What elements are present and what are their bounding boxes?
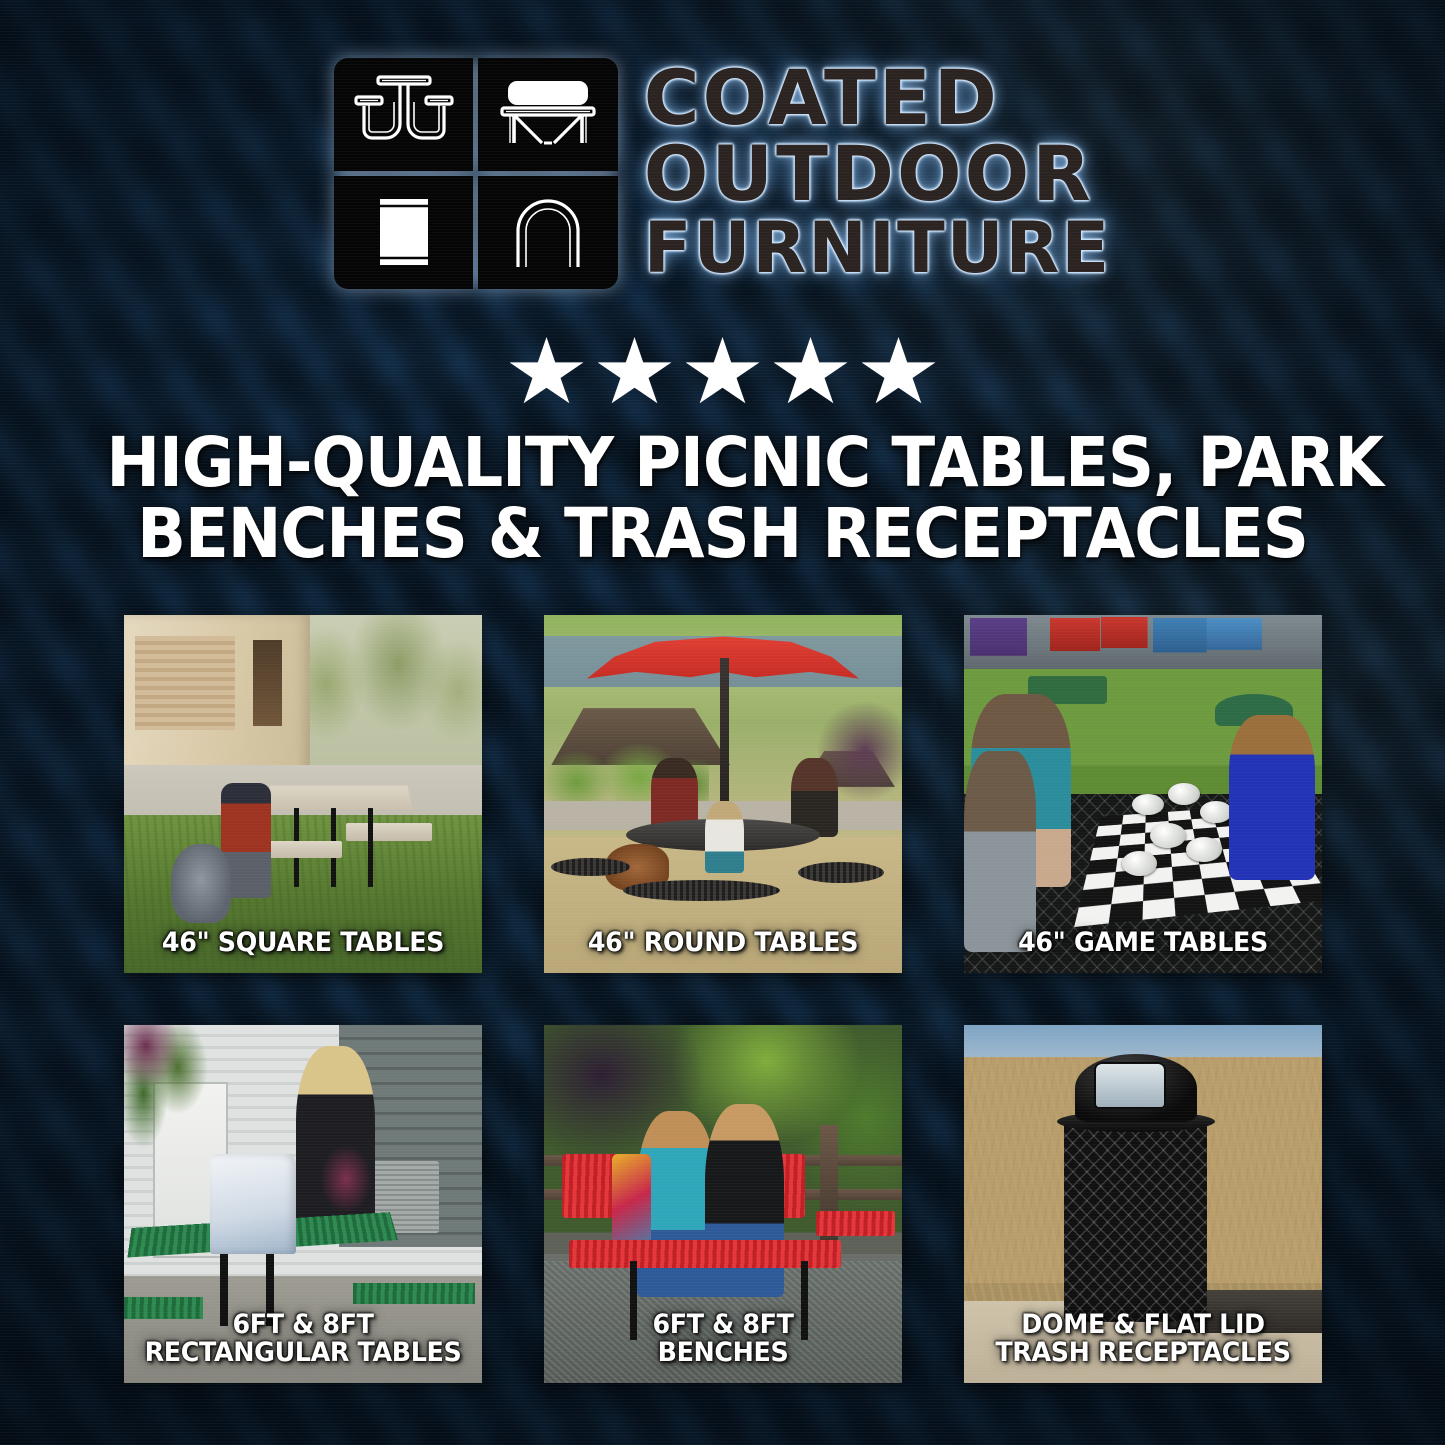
product-caption: DOME & FLAT LID TRASH RECEPTACLES: [980, 1311, 1305, 1367]
brand-logo: COATED OUTDOOR FURNITURE: [0, 58, 1445, 289]
product-tile-square-tables[interactable]: 46" SQUARE TABLES: [124, 615, 482, 973]
caption-line-1: 6FT & 8FT: [140, 1311, 465, 1339]
caption-line-1: 6FT & 8FT: [560, 1311, 885, 1339]
advertisement-banner: COATED OUTDOOR FURNITURE HIGH-QUALITY PI…: [0, 0, 1445, 1445]
headline-line-1: HIGH-QUALITY PICNIC TABLES, PARK: [106, 428, 1338, 499]
picnic-table-icon: [334, 58, 474, 171]
trash-receptacle-icon: [334, 176, 474, 289]
product-caption: 46" GAME TABLES: [980, 929, 1305, 957]
product-caption: 46" SQUARE TABLES: [140, 929, 465, 957]
product-caption: 6FT & 8FT BENCHES: [560, 1311, 885, 1367]
product-caption: 6FT & 8FT RECTANGULAR TABLES: [140, 1311, 465, 1367]
product-photo-square-tables: [124, 615, 482, 973]
caption-line-1: 46" ROUND TABLES: [560, 929, 885, 957]
product-caption: 46" ROUND TABLES: [560, 929, 885, 957]
caption-line-1: 46" GAME TABLES: [980, 929, 1305, 957]
headline: HIGH-QUALITY PICNIC TABLES, PARK BENCHES…: [106, 428, 1338, 570]
star-icon: [774, 337, 848, 409]
caption-line-1: 46" SQUARE TABLES: [140, 929, 465, 957]
star-icon: [598, 337, 672, 409]
star-rating: [0, 337, 1445, 409]
star-icon: [686, 337, 760, 409]
logo-icon-grid: [334, 58, 618, 289]
product-tile-game-tables[interactable]: 46" GAME TABLES: [964, 615, 1322, 973]
bench-table-icon: [478, 58, 618, 171]
product-grid: 46" SQUARE TABLES 46" ROUND TABLES: [124, 615, 1322, 1383]
caption-line-2: RECTANGULAR TABLES: [140, 1339, 465, 1367]
brand-wordmark: COATED OUTDOOR FURNITURE: [644, 61, 1112, 287]
star-icon: [510, 337, 584, 409]
caption-line-1: DOME & FLAT LID: [980, 1311, 1305, 1339]
product-photo-game-tables: [964, 615, 1322, 973]
product-tile-trash-receptacles[interactable]: DOME & FLAT LID TRASH RECEPTACLES: [964, 1025, 1322, 1383]
star-icon: [862, 337, 936, 409]
product-photo-round-tables: [544, 615, 902, 973]
brand-word-furniture: FURNITURE: [644, 214, 1112, 283]
product-tile-benches[interactable]: 6FT & 8FT BENCHES: [544, 1025, 902, 1383]
brand-word-coated: COATED: [644, 61, 1000, 135]
product-tile-rectangular-tables[interactable]: 6FT & 8FT RECTANGULAR TABLES: [124, 1025, 482, 1383]
caption-line-2: TRASH RECEPTACLES: [980, 1339, 1305, 1367]
brand-word-outdoor: OUTDOOR: [644, 137, 1094, 211]
product-tile-round-tables[interactable]: 46" ROUND TABLES: [544, 615, 902, 973]
bike-rack-icon: [478, 176, 618, 289]
caption-line-2: BENCHES: [560, 1339, 885, 1367]
headline-line-2: BENCHES & TRASH RECEPTACLES: [106, 499, 1338, 570]
